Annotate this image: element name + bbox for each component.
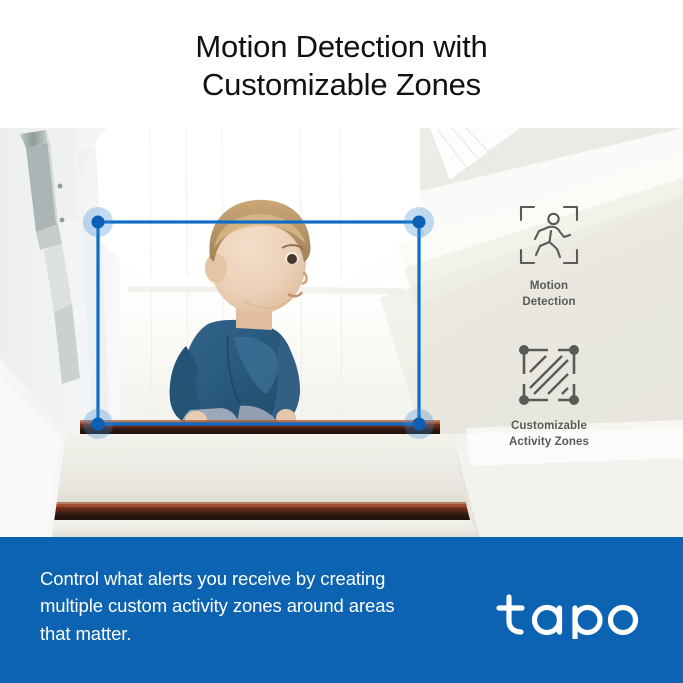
page-title-line2: Customizable Zones (195, 66, 487, 104)
footer-description: Control what alerts you receive by creat… (40, 565, 470, 647)
feature-list: Motion Detection (478, 204, 620, 450)
feature-label-line2: Activity Zones (509, 435, 589, 451)
footer-text-line1: Control what alerts you receive by creat… (40, 568, 385, 589)
page-title: Motion Detection with Customizable Zones (195, 24, 487, 104)
feature-customizable-zones: Customizable Activity Zones (509, 344, 589, 450)
tapo-logo: tapo (495, 591, 647, 639)
hero-photo: Motion Detection (0, 128, 683, 537)
walking-person-in-frame-icon (518, 204, 580, 271)
page-header: Motion Detection with Customizable Zones (0, 0, 683, 128)
feature-motion-detection: Motion Detection (518, 204, 580, 310)
feature-motion-detection-label: Motion Detection (522, 279, 575, 310)
feature-label-line1: Customizable (511, 420, 587, 432)
promo-page: Motion Detection with Customizable Zones (0, 0, 683, 683)
hatched-activity-zone-icon (518, 344, 580, 411)
tapo-logo-text: tapo (495, 639, 496, 640)
footer-text-line2: multiple custom activity zones around ar… (40, 592, 470, 619)
feature-label-line1: Motion (530, 280, 568, 292)
page-title-line1: Motion Detection with (195, 29, 487, 64)
footer-text-line3: that matter. (40, 620, 470, 647)
feature-customizable-zones-label: Customizable Activity Zones (509, 419, 589, 450)
footer-banner: Control what alerts you receive by creat… (0, 537, 683, 683)
feature-label-line2: Detection (522, 295, 575, 311)
